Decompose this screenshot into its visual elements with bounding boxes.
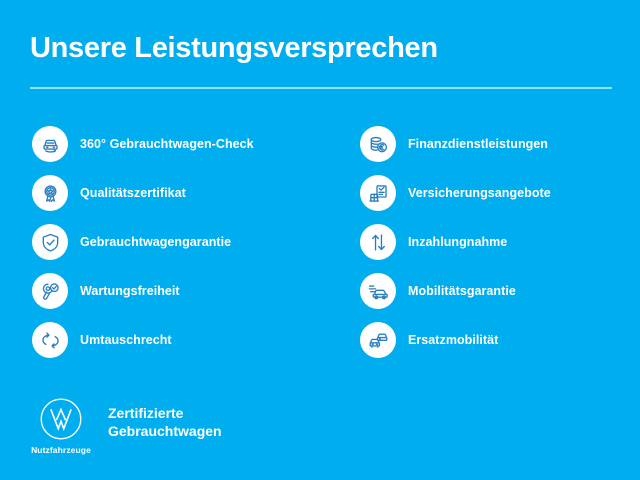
promise-item-finanzdienstleistungen: Finanzdienstleistungen [360, 126, 630, 175]
header: Unsere Leistungsversprechen [30, 30, 612, 89]
promises-poster: Unsere Leistungsversprechen [0, 0, 640, 480]
coins-euro-icon [360, 126, 396, 162]
up-down-arrows-icon [360, 224, 396, 260]
brand-mark: Nutzfahrzeuge [30, 396, 92, 455]
insurance-document-check-icon [360, 175, 396, 211]
wrench-check-icon [32, 273, 68, 309]
brand-tagline-line1: Zertifizierte [108, 404, 222, 422]
promises-left-column: 360° Gebrauchtwagen-Check Qualitätszerti… [32, 126, 332, 371]
title-divider [30, 87, 612, 89]
promise-item-gebrauchtwagen-check: 360° Gebrauchtwagen-Check [32, 126, 332, 175]
promise-label: Wartungsfreiheit [80, 273, 180, 309]
shield-check-icon [32, 224, 68, 260]
promise-label: Mobilitätsgarantie [408, 273, 516, 309]
promise-item-gebrauchtwagengarantie: Gebrauchtwagengarantie [32, 224, 332, 273]
promise-label: Versicherungsangebote [408, 175, 551, 211]
promise-item-wartungsfreiheit: Wartungsfreiheit [32, 273, 332, 322]
exchange-arrows-icon [32, 322, 68, 358]
promise-label: Inzahlungnahme [408, 224, 507, 260]
promise-item-umtauschrecht: Umtauschrecht [32, 322, 332, 371]
promise-item-versicherungsangebote: Versicherungsangebote [360, 175, 630, 224]
promise-label: Gebrauchtwagengarantie [80, 224, 231, 260]
promise-label: Finanzdienstleistungen [408, 126, 548, 162]
car-360-check-icon [32, 126, 68, 162]
promise-label: Umtauschrecht [80, 322, 172, 358]
promise-item-inzahlungnahme: Inzahlungnahme [360, 224, 630, 273]
promise-item-ersatzmobilitaet: Ersatzmobilität [360, 322, 630, 371]
promise-label: 360° Gebrauchtwagen-Check [80, 126, 254, 162]
quality-badge-icon [32, 175, 68, 211]
brand-tagline: Zertifizierte Gebrauchtwagen [108, 404, 222, 440]
promises-right-column: Finanzdienstleistungen Ver [360, 126, 630, 371]
brand-tagline-line2: Gebrauchtwagen [108, 422, 222, 440]
promise-item-mobilitaetsgarantie: Mobilitätsgarantie [360, 273, 630, 322]
car-motion-icon [360, 273, 396, 309]
two-cars-icon [360, 322, 396, 358]
promise-label: Ersatzmobilität [408, 322, 498, 358]
page-title: Unsere Leistungsversprechen [30, 30, 612, 66]
brand-subtitle: Nutzfahrzeuge [31, 445, 91, 455]
promise-item-qualitaetszertifikat: Qualitätszertifikat [32, 175, 332, 224]
brand-lockup: Nutzfahrzeuge Zertifizierte Gebrauchtwag… [30, 396, 222, 455]
promise-label: Qualitätszertifikat [80, 175, 186, 211]
vw-logo [38, 396, 84, 442]
